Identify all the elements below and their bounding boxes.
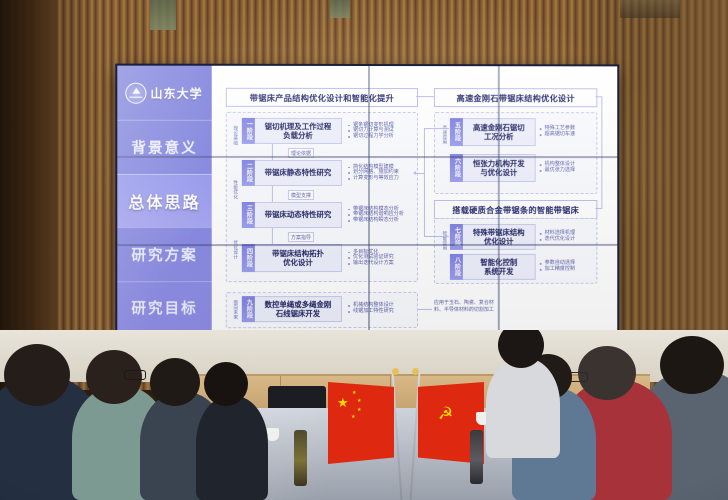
connector-right-top-stub xyxy=(595,96,602,97)
water-bottle xyxy=(470,430,483,484)
connector-cross-to-stage5 xyxy=(425,128,449,129)
flagpole-finial-left xyxy=(392,368,399,375)
bullet-item: 锯切过程力学分析 xyxy=(348,134,414,140)
slide-logo: 山东大学 xyxy=(117,66,211,120)
header-right-top: 高速金刚石带锯床结构优化设计 xyxy=(434,88,597,107)
stage-badge-5: 五阶段 xyxy=(450,118,463,146)
stage-badge-3: 三阶段 xyxy=(242,202,255,228)
left-group-label-theory: 理论基础 xyxy=(229,118,240,154)
shandong-university-emblem-icon xyxy=(125,82,146,103)
sidebar-item-research-plan[interactable]: 研究方案 xyxy=(117,227,211,281)
slide-sidebar: 山东大学 背景意义 总体思路 研究方案 研究目标 xyxy=(117,66,211,335)
connector-headers xyxy=(416,96,434,97)
connector-cross-top-v xyxy=(424,128,425,174)
stage-bullets-6: 机构整体设计 最优张力选择 xyxy=(540,154,594,182)
stage-card-1[interactable]: 一阶段 锯切机理及工作过程负载分析 xyxy=(242,118,342,144)
ceiling-vent-right xyxy=(620,0,680,18)
stage-bullets-7: 材料选择机理 迭代优化设计 xyxy=(540,224,594,250)
stage-bullets-9: 机械结构整体设计 线锯加工特性研究 xyxy=(348,296,414,322)
left-group-label-optimization: 优化设计 xyxy=(229,232,240,268)
logo-text: 山东大学 xyxy=(150,84,202,101)
stage-card-5[interactable]: 五阶段 高速金刚石锯切工况分析 xyxy=(450,118,536,146)
paper-cup xyxy=(266,428,279,441)
stage-bullets-4: 多目标优化 优化测试验证研究 输出迭代设计方案 xyxy=(348,244,414,272)
stage-card-6[interactable]: 六阶段 恒张力机构开发与优化设计 xyxy=(450,154,536,182)
attendee-head xyxy=(150,358,200,406)
sidebar-item-background[interactable]: 背景意义 xyxy=(117,120,211,174)
stage-card-2[interactable]: 二阶段 带锯床静态特性研究 xyxy=(242,160,342,186)
meeting-room-photo: 山东大学 背景意义 总体思路 研究方案 研究目标 带锯床产品结构优化设计和智能化… xyxy=(0,0,728,500)
attendee xyxy=(486,358,560,458)
header-left: 带锯床产品结构优化设计和智能化提升 xyxy=(226,88,418,107)
stage-card-3[interactable]: 三阶段 带锯床动态特性研究 xyxy=(242,202,342,228)
flagpole-finial-right xyxy=(412,368,419,375)
stage-bullets-2: 简化结构模型建模 划分网格、施加约束 计算变形与等效应力 xyxy=(348,160,414,186)
stage-card-4[interactable]: 四阶段 带锯床结构拓扑优化设计 xyxy=(242,244,342,272)
bullet-item: 迭代优化设计 xyxy=(540,237,594,243)
stage-badge-7: 七阶段 xyxy=(450,224,463,250)
bullet-item: 最优张力选择 xyxy=(540,168,594,174)
bottom-group-label: 面向未来 xyxy=(229,298,240,322)
header-right-mid: 搭载硬质合金带锯条的智能带锯床 xyxy=(434,200,597,219)
attendee-head xyxy=(4,344,70,406)
connector-right-spine xyxy=(601,96,602,208)
panel-seam-vertical-center xyxy=(368,66,369,334)
right-group-label-highspeed: 高速应用 xyxy=(438,118,449,152)
stage-bullets-8: 参数自动选择 加工精度控制 xyxy=(540,254,594,280)
bullet-item: 带锯床结构瞬态分析 xyxy=(348,218,414,224)
attendee xyxy=(196,396,268,500)
stage-card-9[interactable]: 九阶段 数控单绳或多绳金刚石线锯床开发 xyxy=(242,296,342,322)
panel-seam-vertical-right xyxy=(498,66,499,334)
room-foreground: ★ ★ ★ ★ ★ ☭ xyxy=(0,330,728,500)
flag-star-small: ★ xyxy=(351,415,355,420)
stage-badge-9: 九阶段 xyxy=(242,296,255,322)
stage-title-4: 带锯床结构拓扑优化设计 xyxy=(255,244,342,272)
flag-star-small: ★ xyxy=(357,408,361,413)
stage-bullets-5: 特殊工艺参数 超高锯切车速 xyxy=(540,118,594,146)
bullet-item: 输出迭代设计方案 xyxy=(348,261,414,267)
stage-title-3: 带锯床动态特性研究 xyxy=(255,202,342,228)
ceiling-beam-center xyxy=(330,0,350,18)
connector-right-mid-stub xyxy=(595,208,602,209)
bullet-item: 计算变形与等效应力 xyxy=(348,176,414,182)
connector-label-plan-guidance: 方案指导 xyxy=(288,232,314,242)
sidebar-item-research-goals[interactable]: 研究目标 xyxy=(117,281,211,335)
bullet-item: 加工精度控制 xyxy=(540,267,594,273)
flag-star-small: ★ xyxy=(357,399,361,404)
stage-badge-2: 二阶段 xyxy=(242,160,255,186)
stage-bullets-1: 锯条锯切变形机理 锯切力计算与测试 锯切过程力学分析 xyxy=(348,118,414,144)
stage-title-2: 带锯床静态特性研究 xyxy=(255,160,342,186)
ceiling-beam-left xyxy=(150,0,176,30)
stage-bullets-3: 带锯床结构模态分析 带锯床结构谐响应分析 带锯床结构瞬态分析 xyxy=(348,202,414,228)
stage-badge-4: 四阶段 xyxy=(242,244,255,272)
left-group-label-performance: 性能优化 xyxy=(229,170,240,210)
connector-bottom-note xyxy=(418,309,432,310)
attendee-head xyxy=(204,362,248,406)
connector-cross-mid-v xyxy=(424,173,425,237)
connector-stage2-stage3 xyxy=(272,186,273,202)
eyeglasses xyxy=(124,370,146,380)
bullet-item: 超高锯切车速 xyxy=(540,132,594,138)
flag-star-small: ★ xyxy=(352,391,356,396)
flag-star-big: ★ xyxy=(337,396,349,409)
stage-title-1: 锯切机理及工作过程负载分析 xyxy=(255,118,342,144)
stage-title-9: 数控单绳或多绳金刚石线锯床开发 xyxy=(255,296,342,322)
stage-card-8[interactable]: 八阶段 智能化控制系统开发 xyxy=(450,254,536,280)
connector-arrow-right-mid xyxy=(445,234,448,238)
slide-nav: 背景意义 总体思路 研究方案 研究目标 xyxy=(117,120,211,335)
sidebar-item-overall-approach[interactable]: 总体思路 xyxy=(117,173,211,227)
connector-stage3-stage4 xyxy=(272,228,273,244)
bottom-note: 应用于玉石、陶瓷、复合材料、半导体材料的切割加工 xyxy=(434,300,494,314)
attendee-head xyxy=(660,336,724,394)
water-bottle xyxy=(294,430,307,486)
right-group-label-intelligent: 智能应用 xyxy=(438,224,449,258)
panel-seam-horizontal-top xyxy=(117,156,617,158)
stage-badge-1: 一阶段 xyxy=(242,118,255,144)
hammer-and-sickle-icon: ☭ xyxy=(438,406,453,423)
diagram-canvas: 带锯床产品结构优化设计和智能化提升 高速金刚石带锯床结构优化设计 搭载硬质合金带… xyxy=(212,66,618,334)
panel-seam-horizontal-bottom xyxy=(117,244,617,246)
connector-label-model-support: 模型支撑 xyxy=(288,190,314,200)
prc-national-flag: ★ ★ ★ ★ ★ xyxy=(328,382,394,464)
video-wall-display[interactable]: 山东大学 背景意义 总体思路 研究方案 研究目标 带锯床产品结构优化设计和智能化… xyxy=(117,66,617,335)
stage-badge-6: 六阶段 xyxy=(450,154,463,182)
connector-arrow-left-top xyxy=(413,171,416,175)
bullet-item: 线锯加工特性研究 xyxy=(348,309,414,315)
connector-stage1-stage2 xyxy=(272,144,273,160)
stage-badge-8: 八阶段 xyxy=(450,254,463,280)
stage-card-7[interactable]: 七阶段 特殊带锯床结构优化设计 xyxy=(450,224,536,250)
